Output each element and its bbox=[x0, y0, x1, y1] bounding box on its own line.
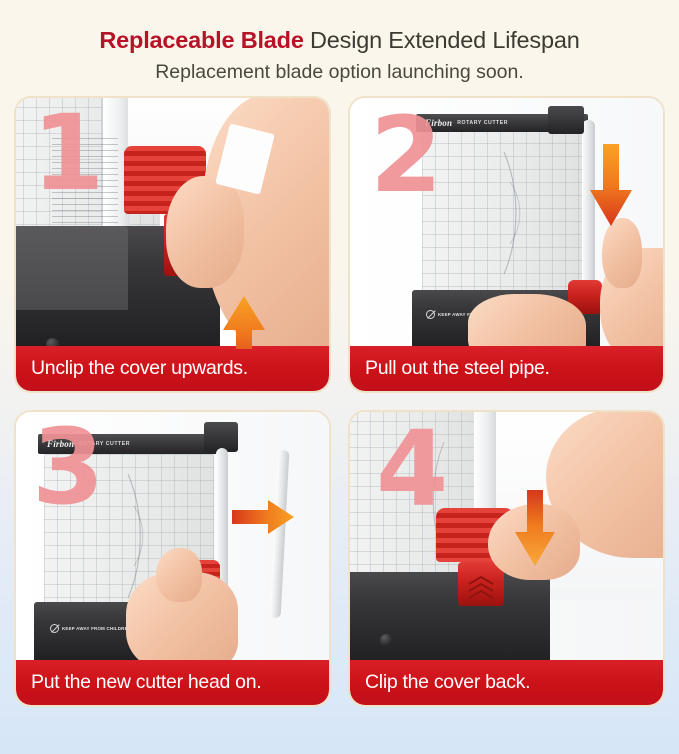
page-subtitle: Replacement blade option launching soon. bbox=[14, 60, 665, 84]
page-title-rest: Design Extended Lifespan bbox=[304, 27, 580, 53]
step-caption-text-4: Clip the cover back. bbox=[365, 671, 530, 694]
step-caption-text-2: Pull out the steel pipe. bbox=[365, 357, 550, 380]
step-caption-bar-1: Unclip the cover upwards. bbox=[16, 346, 329, 391]
step-caption-bar-4: Clip the cover back. bbox=[350, 660, 663, 705]
step-caption-bar-3: Put the new cutter head on. bbox=[16, 660, 329, 705]
step-panel-2: Firbon ROTARY CUTTER KEEP AWAY FROM CHIL… bbox=[348, 96, 665, 393]
arrow-down-icon bbox=[513, 488, 557, 568]
steps-grid: 1 Unclip the cover upwards. Firbon ROTAR… bbox=[14, 96, 665, 707]
step-number-4: 4 bbox=[376, 426, 448, 513]
step-panel-4: 4 Clip the cover back. bbox=[348, 410, 665, 707]
step-panel-1: 1 Unclip the cover upwards. bbox=[14, 96, 331, 393]
warning-label-3: KEEP AWAY FROM CHILDREN bbox=[50, 624, 131, 633]
step-number-3: 3 bbox=[32, 424, 104, 511]
brand-subtitle: ROTARY CUTTER bbox=[457, 120, 508, 126]
arrow-up-icon bbox=[221, 294, 267, 349]
step-caption-text-1: Unclip the cover upwards. bbox=[31, 357, 248, 380]
prohibition-icon bbox=[50, 624, 59, 633]
prohibition-icon bbox=[426, 310, 435, 319]
warning-text: KEEP AWAY FROM CHILDREN bbox=[62, 626, 131, 631]
arrow-right-icon bbox=[230, 498, 296, 536]
step-caption-text-3: Put the new cutter head on. bbox=[31, 671, 261, 694]
arrow-down-icon bbox=[588, 140, 634, 228]
step-panel-3: Firbon ROTARY CUTTER KEEP AWAY FROM CHIL… bbox=[14, 410, 331, 707]
step-caption-bar-2: Pull out the steel pipe. bbox=[350, 346, 663, 391]
page-title-accent: Replaceable Blade bbox=[99, 27, 303, 53]
page-title: Replaceable Blade Design Extended Lifesp… bbox=[14, 26, 665, 55]
header: Replaceable Blade Design Extended Lifesp… bbox=[0, 0, 679, 94]
step-number-2: 2 bbox=[370, 112, 442, 199]
step-number-1: 1 bbox=[32, 110, 104, 197]
